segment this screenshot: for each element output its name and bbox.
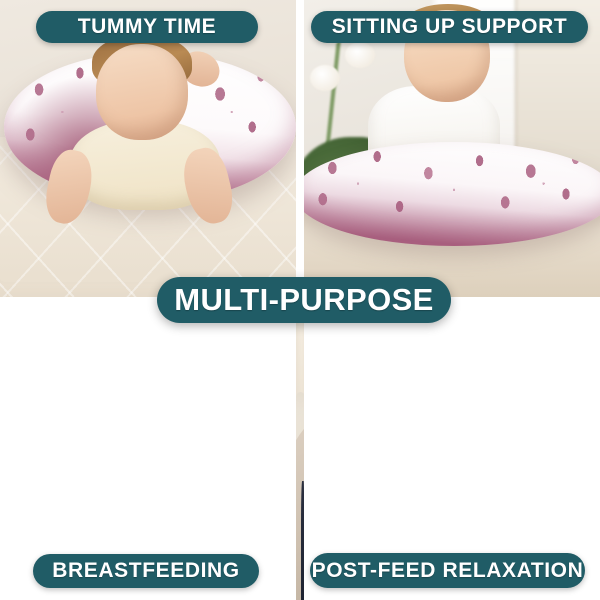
badge-multi-purpose[interactable]: MULTI-PURPOSE (157, 277, 451, 323)
panel-breastfeeding[interactable] (296, 303, 304, 600)
badge-label: POST-FEED RELAXATION (312, 559, 584, 583)
panel-sitting-up-support[interactable] (304, 0, 600, 297)
badge-label: BREASTFEEDING (52, 559, 239, 583)
adult-lap (301, 481, 304, 600)
multi-purpose-product-collage: TUMMY TIME SITTING UP SUPPORT BREASTFEED… (0, 0, 600, 600)
badge-label: TUMMY TIME (78, 15, 217, 39)
orchid-flower (345, 42, 375, 68)
nursing-pillow-rose (304, 142, 600, 246)
pillow-print-pattern (304, 142, 600, 246)
badge-breastfeeding[interactable]: BREASTFEEDING (33, 554, 259, 588)
badge-post-feed-relaxation[interactable]: POST-FEED RELAXATION (310, 553, 585, 588)
headline-label: MULTI-PURPOSE (174, 282, 434, 318)
badge-sitting-up-support[interactable]: SITTING UP SUPPORT (311, 11, 588, 43)
panel-tummy-time[interactable] (0, 0, 296, 297)
column-divider (296, 0, 304, 297)
badge-label: SITTING UP SUPPORT (332, 15, 568, 39)
badge-tummy-time[interactable]: TUMMY TIME (36, 11, 258, 43)
baby-head (96, 44, 188, 140)
